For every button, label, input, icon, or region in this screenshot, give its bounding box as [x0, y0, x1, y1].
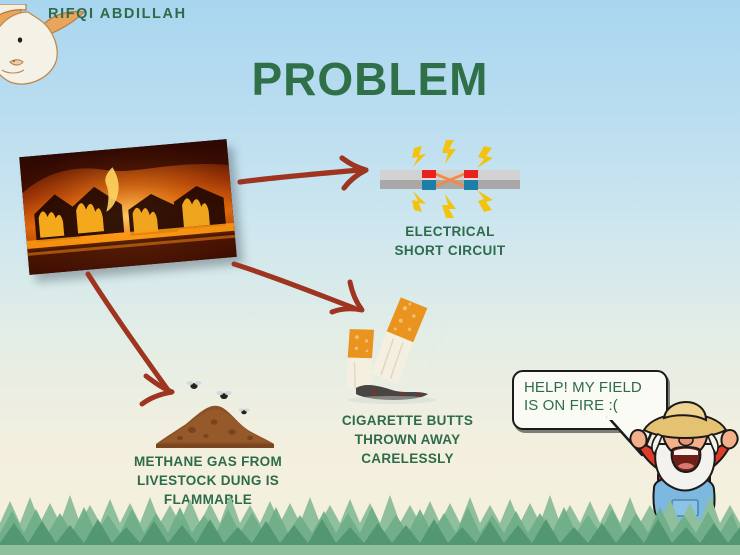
cigarette-butts-label: CIGARETTE BUTTS THROWN AWAY CARELESSLY	[325, 411, 490, 468]
cigarette-label-line1: CIGARETTE BUTTS	[325, 411, 490, 430]
speech-line1: HELP! MY FIELD	[524, 379, 660, 397]
fly-icon	[217, 391, 232, 399]
fly-icon	[238, 408, 249, 414]
cigarette-label-line3: CARELESSLY	[325, 449, 490, 468]
fly-icon	[187, 381, 202, 389]
dung-pile-icon	[152, 378, 278, 450]
author-name: RIFQI ABDILLAH	[48, 6, 187, 22]
cigarette-label-line2: THROWN AWAY	[325, 430, 490, 449]
burning-buildings-photo	[19, 139, 236, 275]
short-circuit-label: ELECTRICAL SHORT CIRCUIT	[355, 222, 545, 260]
arrow-to-short-circuit	[238, 156, 374, 200]
methane-label-line1: METHANE GAS FROM	[118, 452, 298, 471]
slide-canvas: RIFQI ABDILLAH PROBLEM	[0, 0, 740, 555]
short-circuit-label-line1: ELECTRICAL	[355, 222, 545, 241]
cigarette-butts-icon	[340, 288, 462, 406]
short-circuit-label-line2: SHORT CIRCUIT	[355, 241, 545, 260]
page-title: PROBLEM	[0, 52, 740, 106]
grass-border	[0, 483, 740, 555]
short-circuit-cable-icon	[374, 140, 526, 218]
